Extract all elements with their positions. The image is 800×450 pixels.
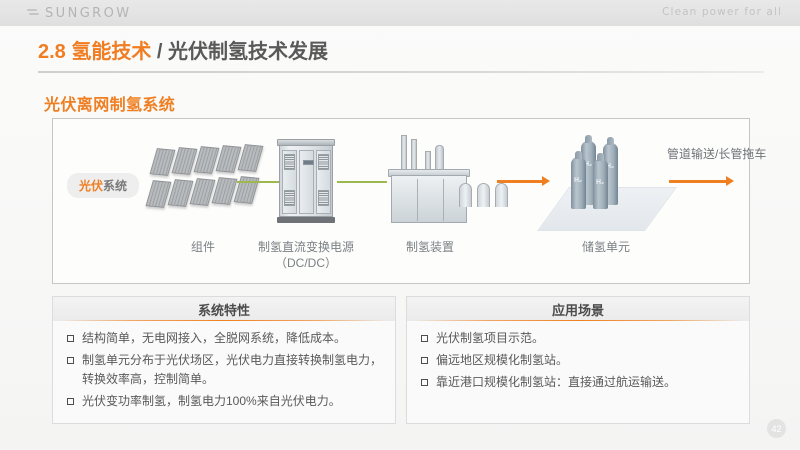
pv-system-badge: 光伏系统 (67, 173, 139, 198)
title-main: / 光伏制氢技术发展 (151, 41, 328, 63)
pv-badge-gray: 系统 (103, 179, 127, 193)
system-features-title: 系统特性 (198, 300, 250, 319)
list-item: 制氢单元分布于光伏场区，光伏电力直接转换制氢电力，转换效率高，控制简单。 (63, 351, 385, 389)
list-item: 光伏变功率制氢，制氢电力100%来自光伏电力。 (63, 392, 385, 411)
caption-dcdc-line1: 制氢直流变换电源 (239, 239, 373, 255)
logo-text: SUNGROW (45, 6, 132, 21)
connector-pv-to-converter (237, 181, 279, 183)
arrow-to-transport-icon (726, 176, 734, 186)
system-features-header: 系统特性 (53, 297, 395, 321)
header-bar: SUNGROW Clean power for all (0, 0, 800, 26)
square-bullet-icon (67, 335, 74, 342)
list-item-text: 结构简单，无电网接入，全脱网系统，降低成本。 (82, 329, 385, 348)
process-diagram-panel: 光伏系统 (52, 118, 750, 284)
list-item-text: 偏远地区规模化制氢站。 (436, 351, 739, 370)
caption-dcdc-line2: （DC/DC） (239, 255, 373, 271)
tank-label: H₂ (596, 179, 604, 186)
title-number: 2.8 氢能技术 (38, 41, 151, 63)
title-divider (38, 71, 764, 73)
connector-converter-to-electrolyser (337, 181, 387, 183)
square-bullet-icon (67, 398, 74, 405)
transport-label: 管道输送/长管拖车 (667, 145, 766, 162)
list-item: 结构简单，无电网接入，全脱网系统，降低成本。 (63, 329, 385, 348)
square-bullet-icon (67, 357, 74, 364)
arrow-to-storage-icon (542, 176, 550, 186)
caption-storage: 储氢单元 (559, 239, 653, 255)
connector-electrolyser-to-storage (497, 180, 543, 183)
list-item-text: 光伏变功率制氢，制氢电力100%来自光伏电力。 (82, 392, 385, 411)
caption-modules: 组件 (161, 239, 245, 255)
pv-badge-orange: 光伏 (79, 179, 103, 193)
solar-panel-array-icon (149, 147, 259, 219)
page-title: 2.8 氢能技术 / 光伏制氢技术发展 (38, 38, 762, 66)
application-scenarios-box: 应用场景 光伏制氢项目示范。 偏远地区规模化制氢站。 靠近港口规模化制氢站：直接… (406, 296, 750, 424)
header-tagline: Clean power for all (662, 6, 782, 18)
application-scenarios-title: 应用场景 (552, 300, 604, 319)
square-bullet-icon (421, 379, 428, 386)
application-scenarios-header: 应用场景 (407, 297, 749, 321)
section-subtitle: 光伏离网制氢系统 (44, 91, 175, 115)
list-item-text: 制氢单元分布于光伏场区，光伏电力直接转换制氢电力，转换效率高，控制简单。 (82, 351, 385, 389)
list-item: 靠近港口规模化制氢站：直接通过航运输送。 (417, 373, 739, 392)
electrolyser-icon (385, 135, 475, 227)
list-item: 偏远地区规模化制氢站。 (417, 351, 739, 370)
page-number: 42 (767, 419, 786, 438)
sungrow-mark-icon (26, 7, 39, 20)
list-item-text: 光伏制氢项目示范。 (436, 329, 739, 348)
list-item: 光伏制氢项目示范。 (417, 329, 739, 348)
hydrogen-storage-icon: H₂ H₂ H₂ H₂ (553, 135, 663, 233)
list-item-text: 靠近港口规模化制氢站：直接通过航运输送。 (436, 373, 739, 392)
connector-storage-to-transport (669, 180, 727, 183)
tank-label: H₂ (574, 177, 582, 184)
square-bullet-icon (421, 335, 428, 342)
system-features-box: 系统特性 结构简单，无电网接入，全脱网系统，降低成本。 制氢单元分布于光伏场区，… (52, 296, 396, 424)
caption-electrolyser: 制氢装置 (385, 239, 475, 255)
brand-logo: SUNGROW (26, 6, 132, 21)
square-bullet-icon (421, 357, 428, 364)
dcdc-converter-icon (275, 139, 337, 225)
